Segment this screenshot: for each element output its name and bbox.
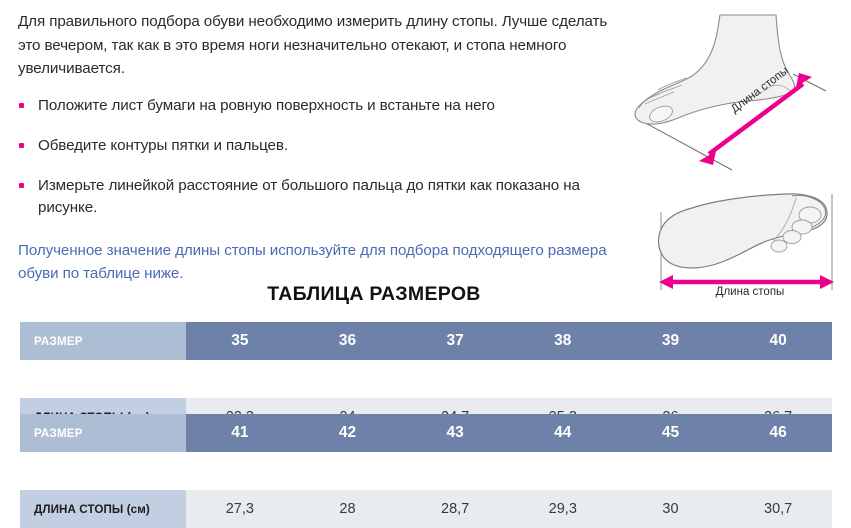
table-header-row: РАЗМЕР 41 42 43 44 45 46 xyxy=(20,414,832,452)
row-value: 28,7 xyxy=(401,490,509,528)
separator-cell xyxy=(20,360,832,398)
table-header-size: 40 xyxy=(724,322,832,360)
row-value: 30,7 xyxy=(724,490,832,528)
table-header-label: РАЗМЕР xyxy=(20,322,186,360)
table-header-size: 37 xyxy=(401,322,509,360)
list-item-label: Измерьте линейкой расстояние от большого… xyxy=(38,177,580,216)
page-title: ТАБЛИЦА РАЗМЕРОВ xyxy=(0,283,748,306)
table-header-size: 43 xyxy=(401,414,509,452)
table-header-size: 44 xyxy=(509,414,617,452)
row-value: 30 xyxy=(617,490,725,528)
row-label: ДЛИНА СТОПЫ (см) xyxy=(20,490,186,528)
list-item: Обведите контуры пятки и пальцев. xyxy=(18,135,618,157)
table-header-size: 38 xyxy=(509,322,617,360)
table-row-separator xyxy=(20,360,832,398)
size-table-2: РАЗМЕР 41 42 43 44 45 46 ДЛИНА СТОПЫ (см… xyxy=(20,414,832,528)
list-item-label: Положите лист бумаги на ровную поверхнос… xyxy=(38,97,495,114)
list-item: Положите лист бумаги на ровную поверхнос… xyxy=(18,95,618,117)
toe-4-icon xyxy=(783,231,801,244)
table-header-size: 35 xyxy=(186,322,294,360)
table-header-size: 39 xyxy=(617,322,725,360)
table-header-size: 46 xyxy=(724,414,832,452)
separator-cell xyxy=(20,452,832,490)
intro-paragraph: Для правильного подбора обуви необходимо… xyxy=(18,10,618,81)
bullet-marker-icon xyxy=(19,103,24,108)
table-header-size: 45 xyxy=(617,414,725,452)
instructions-column: Для правильного подбора обуви необходимо… xyxy=(18,10,618,285)
row-value: 29,3 xyxy=(509,490,617,528)
list-item: Измерьте линейкой расстояние от большого… xyxy=(18,175,618,219)
toe-5-icon xyxy=(771,240,787,252)
table-header-size: 41 xyxy=(186,414,294,452)
size-guide-page: Для правильного подбора обуви необходимо… xyxy=(0,0,851,509)
bullet-marker-icon xyxy=(19,143,24,148)
list-item-label: Обведите контуры пятки и пальцев. xyxy=(38,137,288,154)
table-row: ДЛИНА СТОПЫ (см) 27,3 28 28,7 29,3 30 30… xyxy=(20,490,832,528)
table-header-row: РАЗМЕР 35 36 37 38 39 40 xyxy=(20,322,832,360)
note-paragraph: Полученное значение длины стопы использу… xyxy=(18,239,618,285)
foot-sole-view-illustration xyxy=(646,182,846,302)
foot-side-view-illustration xyxy=(620,2,851,180)
table-header-size: 42 xyxy=(294,414,402,452)
table-row-separator xyxy=(20,452,832,490)
row-value: 28 xyxy=(294,490,402,528)
table-header-size: 36 xyxy=(294,322,402,360)
sole-view-measure-label: Длина стопы xyxy=(660,286,840,298)
steps-list: Положите лист бумаги на ровную поверхнос… xyxy=(18,95,618,219)
table-header-label: РАЗМЕР xyxy=(20,414,186,452)
row-value: 27,3 xyxy=(186,490,294,528)
bullet-marker-icon xyxy=(19,183,24,188)
